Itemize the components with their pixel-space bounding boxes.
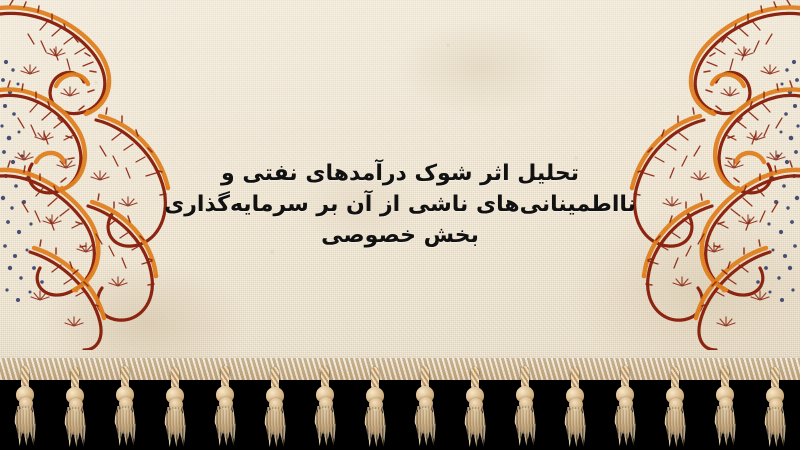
knotted-tassel-fringe	[0, 366, 800, 450]
tassel-skirt-shade	[366, 409, 384, 435]
tassel	[510, 366, 540, 450]
tassel	[10, 366, 40, 450]
tassel	[160, 367, 190, 450]
tassel	[310, 366, 340, 450]
tassel-skirt-shade	[566, 409, 584, 435]
tassel	[560, 367, 590, 450]
tassel-skirt-shade	[66, 409, 84, 435]
tassel	[710, 366, 740, 450]
tassel	[660, 367, 690, 450]
tassel-skirt-shade	[516, 408, 534, 434]
tassel	[260, 367, 290, 450]
tassel	[760, 367, 790, 450]
tassel	[610, 366, 640, 450]
tassel-skirt-shade	[416, 408, 434, 434]
tassel-skirt-shade	[666, 409, 684, 435]
tassel-skirt-shade	[766, 409, 784, 435]
tassel	[60, 367, 90, 450]
tassel	[110, 366, 140, 450]
title-line-2: نااطمینانی‌های ناشی از آن بر سرمایه‌گذار…	[0, 189, 800, 220]
tassel	[410, 366, 440, 450]
tassel	[460, 367, 490, 450]
tassel	[210, 366, 240, 450]
tassel-skirt-shade	[266, 409, 284, 435]
tassel-skirt-shade	[166, 409, 184, 435]
title-line-1: تحلیل اثر شوک درآمدهای نفتی و	[0, 158, 800, 189]
tassel-skirt-shade	[116, 408, 134, 434]
title-line-3: بخش خصوصی	[0, 220, 800, 251]
tassel-skirt-shade	[466, 409, 484, 435]
tassel-skirt-shade	[316, 408, 334, 434]
slide-canvas: تحلیل اثر شوک درآمدهای نفتی و نااطمینانی…	[0, 0, 800, 450]
tassel-skirt-shade	[16, 408, 34, 434]
tassel	[360, 367, 390, 450]
slide-title: تحلیل اثر شوک درآمدهای نفتی و نااطمینانی…	[0, 158, 800, 251]
tassel-skirt-shade	[216, 408, 234, 434]
tassel-skirt-shade	[716, 408, 734, 434]
tassel-skirt-shade	[616, 408, 634, 434]
